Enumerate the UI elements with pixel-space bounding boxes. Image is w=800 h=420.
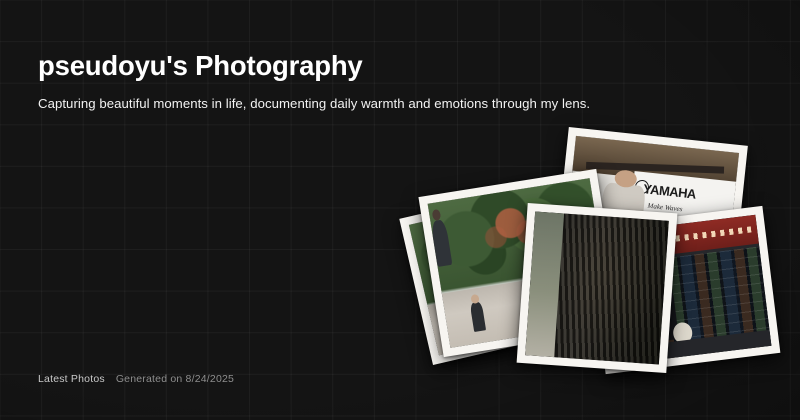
yamaha-brand-text: YAMAHA: [643, 181, 697, 201]
photo-collage: YAMAHA Make Waves AND MUSIC IS FOR EVERY…: [400, 130, 760, 380]
page-subtitle: Capturing beautiful moments in life, doc…: [38, 96, 590, 111]
footer-label: Latest Photos: [38, 373, 105, 385]
polaroid-tree-trunk[interactable]: [517, 203, 678, 373]
photography-hero-card: YAMAHA Make Waves AND MUSIC IS FOR EVERY…: [0, 0, 800, 420]
page-title: pseudoyu's Photography: [38, 50, 363, 82]
footer: Latest Photos Generated on 8/24/2025: [38, 373, 234, 385]
footer-generated-date: Generated on 8/24/2025: [116, 373, 234, 385]
tree-trunk-frame: [525, 212, 669, 365]
